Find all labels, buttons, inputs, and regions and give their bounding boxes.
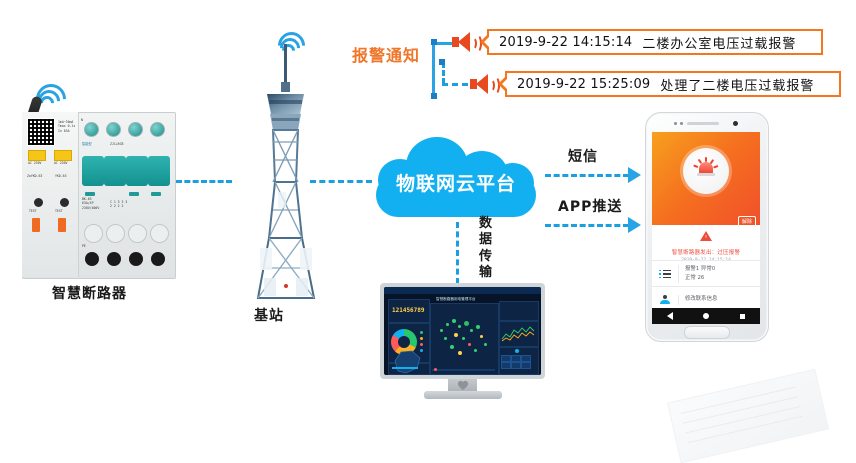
breaker-caption: 智慧断路器 [52, 283, 127, 303]
smart-circuit-breaker-image: 1mA~30mATmax 0.1sIn 63A AC 230V AC 230V … [22, 112, 174, 277]
device-alarm-count: 报警1 异常0 [685, 265, 760, 274]
connector-cloud-to-phone-app [545, 224, 629, 227]
connector-cloud-to-monitor [456, 222, 459, 284]
channel-label-app-push: APP推送 [558, 196, 622, 216]
notification-bracket-line [432, 42, 435, 96]
breaker-qr-code [27, 118, 55, 146]
list-item[interactable]: 修改联系信息 [652, 286, 760, 308]
alarm-hero-banner: 解除 [652, 132, 760, 225]
data-transfer-label: 数据传输 [478, 216, 494, 281]
alarm-notification-heading: 报警通知 [352, 42, 420, 66]
android-nav-bar[interactable] [652, 308, 760, 324]
edit-contact-info-label: 修改联系信息 [678, 295, 760, 304]
diagram-canvas: 1mA~30mATmax 0.1sIn 63A AC 230V AC 230V … [0, 0, 856, 421]
alarm-siren-icon [697, 162, 715, 178]
dashboard-title: 智慧断路器用电管理平台 [436, 297, 476, 302]
cloud-platform-label: 物联网云平台 [372, 133, 540, 221]
mobile-phone-mockup[interactable]: 解除 智慧断路器发出：过压报警 2019-9-22 14:15:14 报警1 异… [645, 112, 767, 340]
dashboard-screen[interactable]: 智慧断路器用电管理平台 121456789 [384, 287, 541, 375]
connector-cloud-to-phone-sms [545, 174, 629, 177]
warning-triangle-icon [700, 231, 712, 241]
base-station-tower-image [240, 42, 332, 300]
phone-earpiece [687, 122, 719, 125]
list-icon [652, 270, 678, 279]
breaker-wifi-icon [38, 76, 74, 110]
channel-label-sms: 短信 [568, 146, 598, 166]
notification-node-mid [439, 59, 445, 65]
phone-sensor-icon [680, 122, 683, 125]
alert-message-row[interactable]: 2019-9-22 15:25:09 处理了二楼电压过载报警 [505, 71, 841, 97]
alarm-warning-block: 智慧断路器发出：过压报警 2019-9-22 14:15:14 [652, 228, 760, 263]
list-item[interactable]: 报警1 异常0 正常 26 [652, 260, 760, 287]
speaker-horn-icon [470, 73, 496, 95]
connector-breaker-to-tower [176, 180, 232, 183]
phone-home-button[interactable] [684, 326, 730, 339]
nav-back-icon[interactable] [667, 312, 673, 320]
phone-app-screen[interactable]: 解除 智慧断路器发出：过压报警 2019-9-22 14:15:14 报警1 异… [652, 132, 760, 308]
connector-tower-to-cloud [310, 180, 372, 183]
dismiss-alarm-button[interactable]: 解除 [738, 216, 756, 227]
alert-message: 处理了二楼电压过载报警 [660, 75, 814, 94]
device-normal-count: 正常 26 [685, 274, 760, 283]
nav-recents-icon[interactable] [740, 314, 745, 319]
notification-node-bottom [431, 93, 437, 99]
speaker-horn-icon [452, 31, 478, 53]
nav-home-icon[interactable] [703, 313, 709, 319]
alarm-text: 智慧断路器发出：过压报警 [652, 248, 760, 256]
phone-sensor-icon [674, 122, 677, 125]
notification-branch-dashed-h [442, 83, 468, 86]
notification-branch-dashed-v [442, 62, 445, 84]
arrow-right-icon [628, 167, 641, 183]
alert-message-row[interactable]: 2019-9-22 14:15:14 二楼办公室电压过载报警 [487, 29, 823, 55]
alert-timestamp: 2019-9-22 14:15:14 [499, 35, 632, 50]
user-icon [652, 295, 678, 305]
notification-node-top [431, 39, 437, 45]
dashboard-kpi-value: 121456789 [392, 307, 425, 314]
alert-message: 二楼办公室电压过载报警 [642, 33, 796, 52]
tower-caption: 基站 [254, 305, 284, 325]
phone-front-camera-icon [733, 121, 738, 126]
iot-cloud-platform-node[interactable]: 物联网云平台 [372, 133, 540, 221]
decorative-paper [667, 369, 829, 463]
alert-timestamp: 2019-9-22 15:25:09 [517, 77, 650, 92]
dashboard-monitor[interactable]: 智慧断路器用电管理平台 121456789 [380, 283, 545, 405]
arrow-right-icon [628, 217, 641, 233]
